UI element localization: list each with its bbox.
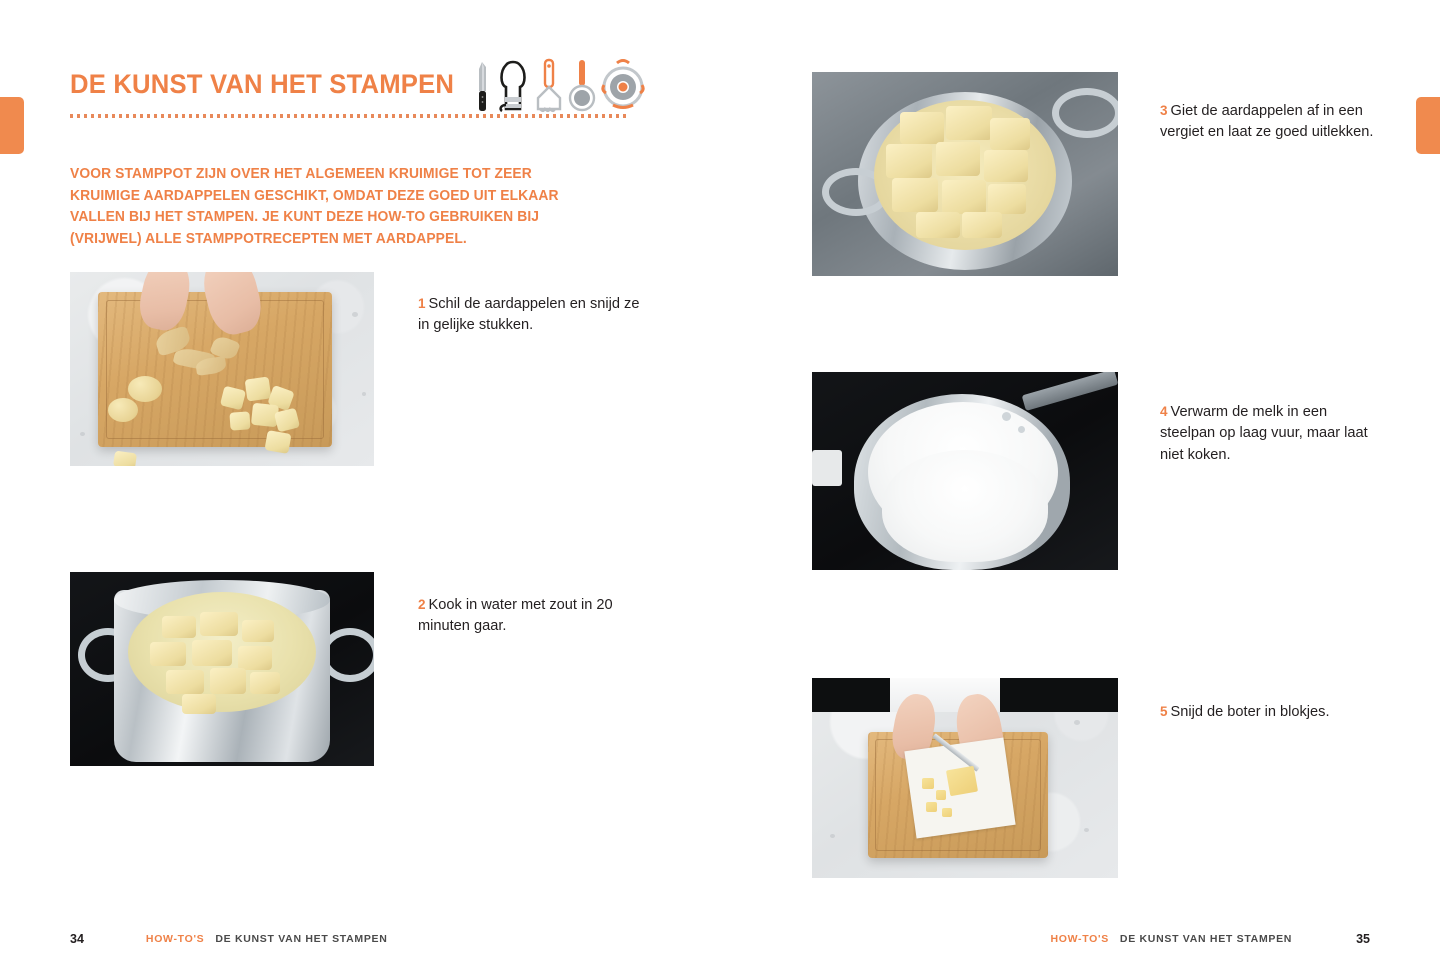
footer-left-category: HOW-TO'S [146,933,204,945]
step-2-photo [70,572,374,766]
step-3-photo [812,72,1118,276]
step-3-text: Giet de aardappelen af in een vergiet en… [1160,103,1373,141]
folio-left: 34 [70,932,84,946]
step-5-caption: 5Snijd de boter in blokjes. [1160,701,1382,724]
page-left: DE KUNST VAN HET STAMPEN [0,0,720,976]
intro-paragraph: VOOR STAMPPOT ZIJN OVER HET ALGEMEEN KRU… [70,164,574,250]
footer-right-category: HOW-TO'S [1050,933,1108,945]
step-3-caption: 3Giet de aardappelen af in een vergiet e… [1160,100,1382,144]
header-divider [70,114,630,118]
footer-right: HOW-TO'S DE KUNST VAN HET STAMPEN 35 [1050,932,1370,946]
step-4-caption: 4Verwarm de melk in een steelpan op laag… [1160,401,1382,467]
step-4-number: 4 [1160,404,1168,419]
step-2-number: 2 [418,597,426,612]
step-2-caption: 2Kook in water met zout in 20 minuten ga… [418,594,648,638]
footer-right-title: DE KUNST VAN HET STAMPEN [1120,933,1292,945]
step-4-photo [812,372,1118,570]
step-1-photo [70,272,374,466]
footer-left-title: DE KUNST VAN HET STAMPEN [215,933,387,945]
step-1-text: Schil de aardappelen en snijd ze in geli… [418,296,639,334]
casserole-pot-icon [601,55,645,113]
cookbook-spread: DE KUNST VAN HET STAMPEN [0,0,1440,976]
step-5-number: 5 [1160,704,1168,719]
knife-icon [474,61,491,113]
step-4-text: Verwarm de melk in een steelpan op laag … [1160,404,1368,463]
step-1-caption: 1Schil de aardappelen en snijd ze in gel… [418,293,648,337]
spatula-icon [535,57,563,113]
step-5-photo [812,678,1118,878]
step-5-text: Snijd de boter in blokjes. [1171,704,1330,720]
header: DE KUNST VAN HET STAMPEN [70,55,630,113]
potato-masher-icon [496,57,530,113]
step-1-number: 1 [418,296,426,311]
frying-pan-icon [568,57,596,113]
page-right: 3Giet de aardappelen af in een vergiet e… [720,0,1440,976]
page-title: DE KUNST VAN HET STAMPEN [70,69,454,100]
step-3-number: 3 [1160,103,1168,118]
step-2-text: Kook in water met zout in 20 minuten gaa… [418,597,613,635]
header-icon-cluster [474,55,645,113]
footer-left: 34 HOW-TO'S DE KUNST VAN HET STAMPEN [70,932,388,946]
folio-right: 35 [1356,932,1370,946]
